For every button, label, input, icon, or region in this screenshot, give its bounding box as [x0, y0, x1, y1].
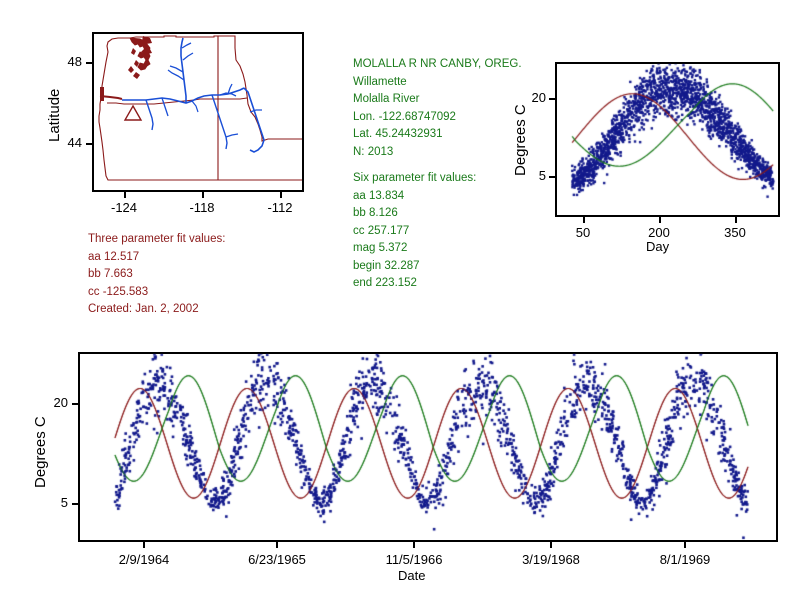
timeseries-scatter-canvas	[0, 340, 792, 611]
seasonal-ytick-5	[549, 176, 555, 178]
created-date: Created: Jan. 2, 2002	[88, 301, 225, 319]
seasonal-xlabel: Day	[646, 239, 669, 254]
six-param-aa: aa 13.834	[353, 188, 522, 206]
six-param-bb: bb 8.126	[353, 205, 522, 223]
station-marker-triangle	[125, 106, 141, 120]
six-param-end: end 223.152	[353, 275, 522, 293]
map-ytick-label-48: 48	[58, 54, 82, 69]
map-xtick-124	[124, 192, 126, 198]
seasonal-plot-panel: 20 5 50 200 350 Day Degrees C	[500, 40, 792, 255]
timeseries-ylabel: Degrees C	[32, 416, 49, 488]
timeseries-xtick-label-5: 8/1/1969	[645, 552, 725, 567]
timeseries-xtick-4	[550, 542, 552, 548]
timeseries-xtick-2	[276, 542, 278, 548]
station-name: MOLALLA R NR CANBY, OREG.	[353, 56, 522, 74]
six-param-mag: mag 5.372	[353, 240, 522, 258]
three-param-cc: cc -125.583	[88, 284, 225, 302]
timeseries-xtick-label-4: 3/19/1968	[511, 552, 591, 567]
seasonal-xtick-label-200: 200	[635, 225, 683, 240]
timeseries-xtick-label-2: 6/23/1965	[237, 552, 317, 567]
six-param-heading: Six parameter fit values:	[353, 170, 522, 188]
six-param-cc: cc 257.177	[353, 223, 522, 241]
seasonal-xtick-label-50: 50	[559, 225, 607, 240]
timeseries-xtick-5	[684, 542, 686, 548]
map-ylabel: Latitude	[46, 89, 63, 142]
timeseries-xtick-3	[413, 542, 415, 548]
station-latitude: Lat. 45.24432931	[353, 126, 522, 144]
station-basin: Willamette	[353, 74, 522, 92]
station-sample-count: N: 2013	[353, 144, 522, 162]
timeseries-ytick-20	[72, 403, 78, 405]
timeseries-panel: 20 5 2/9/1964 6/23/1965 11/5/1966 3/19/1…	[0, 340, 792, 611]
map-xtick-118	[202, 192, 204, 198]
seasonal-ylabel: Degrees C	[512, 104, 529, 176]
three-parameter-fit-text: Three parameter fit values: aa 12.517 bb…	[88, 231, 225, 319]
timeseries-ytick-5	[72, 503, 78, 505]
map-ytick-48	[86, 62, 92, 64]
timeseries-ytick-label-5: 5	[44, 495, 68, 510]
seasonal-xtick-label-350: 350	[711, 225, 759, 240]
station-river: Molalla River	[353, 91, 522, 109]
map-xtick-label-112: -112	[255, 200, 305, 215]
seasonal-scatter-canvas	[500, 40, 792, 255]
station-info-text: MOLALLA R NR CANBY, OREG. Willamette Mol…	[353, 56, 522, 293]
seasonal-xtick-50	[583, 217, 585, 223]
six-param-begin: begin 32.287	[353, 258, 522, 276]
three-param-aa: aa 12.517	[88, 249, 225, 267]
map-ytick-44	[86, 143, 92, 145]
station-longitude: Lon. -122.68747092	[353, 109, 522, 127]
three-param-bb: bb 7.663	[88, 266, 225, 284]
text-spacer	[353, 161, 522, 170]
three-param-heading: Three parameter fit values:	[88, 231, 225, 249]
timeseries-xtick-label-1: 2/9/1964	[104, 552, 184, 567]
seasonal-ytick-20	[549, 98, 555, 100]
map-xtick-label-118: -118	[177, 200, 227, 215]
map-panel: 48 44 -124 -118 -112 Latitude	[0, 0, 330, 230]
timeseries-xtick-1	[143, 542, 145, 548]
map-xtick-label-124: -124	[99, 200, 149, 215]
seasonal-ytick-label-20: 20	[522, 90, 546, 105]
timeseries-ytick-label-20: 20	[44, 395, 68, 410]
seasonal-xtick-200	[659, 217, 661, 223]
map-xtick-112	[280, 192, 282, 198]
seasonal-xtick-350	[735, 217, 737, 223]
timeseries-xlabel: Date	[398, 568, 425, 583]
timeseries-xtick-label-3: 11/5/1966	[374, 552, 454, 567]
